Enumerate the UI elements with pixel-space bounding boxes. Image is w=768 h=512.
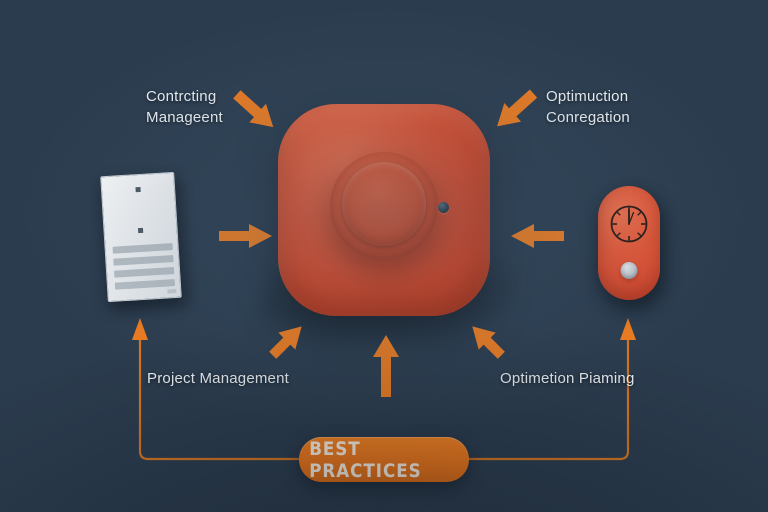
white-document-card[interactable] — [100, 172, 182, 302]
clock-dial-icon — [609, 204, 649, 244]
document-text-line — [114, 267, 174, 278]
label-top-left-line2: Manageent — [146, 107, 223, 128]
diagram-canvas: Contrcting Manageent Optimuction Conrega… — [0, 0, 768, 512]
label-top-right-line2: Conregation — [546, 107, 630, 128]
timer-device-body — [598, 186, 660, 300]
connector-right-arrowhead — [620, 318, 636, 340]
document-card-surface — [100, 172, 182, 302]
arrow-top-left-to-hub — [225, 82, 285, 138]
arrow-document-to-hub — [219, 223, 273, 249]
hub-device-body — [278, 104, 490, 316]
document-text-line — [113, 243, 173, 254]
label-top-right: Optimuction Conregation — [546, 86, 630, 128]
arrow-timer-to-hub — [510, 223, 564, 249]
label-top-left: Contrcting Manageent — [146, 86, 223, 128]
label-bottom-left: Project Management — [147, 368, 289, 389]
arrow-top-right-to-hub — [486, 82, 546, 138]
label-bottom-right-line1: Optimetion Piaming — [500, 368, 635, 389]
best-practices-button-label: BEST PRACTICES — [309, 438, 459, 482]
document-text-line — [113, 255, 173, 266]
best-practices-button[interactable]: BEST PRACTICES — [299, 437, 469, 482]
orange-hub-device[interactable] — [278, 104, 490, 316]
hub-dome-face[interactable] — [342, 162, 426, 246]
label-top-right-line1: Optimuction — [546, 86, 630, 107]
document-text-line — [115, 279, 175, 290]
timer-round-button[interactable] — [621, 262, 638, 279]
arrow-bottom-center-to-hub — [372, 335, 400, 397]
arrow-bottom-left-to-hub — [258, 318, 310, 370]
document-marker-icon — [138, 228, 143, 233]
hub-sensor-dot-icon — [438, 202, 449, 213]
connector-left-arrowhead — [132, 318, 148, 340]
orange-timer-device[interactable] — [598, 186, 660, 300]
label-top-left-line1: Contrcting — [146, 86, 223, 107]
document-marker-icon — [135, 187, 140, 192]
arrow-bottom-right-to-hub — [464, 318, 516, 370]
label-bottom-left-line1: Project Management — [147, 368, 289, 389]
label-bottom-right: Optimetion Piaming — [500, 368, 635, 389]
document-corner-mark — [167, 289, 176, 294]
